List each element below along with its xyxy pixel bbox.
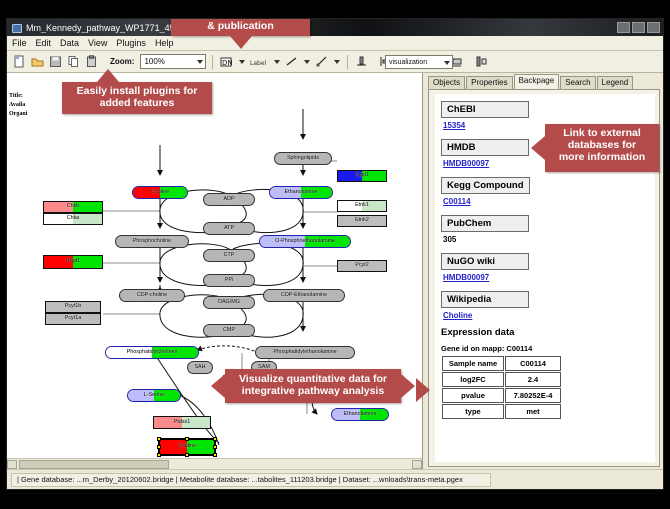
table-cell-value: 7.80252E-4 (505, 388, 561, 403)
gene-node[interactable]: Pcyt2 (337, 260, 387, 272)
label-icon[interactable]: Label (249, 54, 269, 69)
pathway-node[interactable]: CTP (203, 249, 255, 262)
expression-data-heading: Expression data (441, 327, 649, 338)
table-cell-key: Sample name (442, 356, 504, 371)
pathway-node-selected[interactable]: Choline (159, 439, 215, 455)
pathway-node[interactable]: CDP-Ethanolamine (263, 289, 345, 302)
resize-handle[interactable] (157, 445, 161, 449)
zoom-combobox[interactable]: 100% (140, 54, 206, 69)
section-header: Kegg Compound (441, 177, 530, 194)
tab-objects[interactable]: Objects (428, 76, 465, 89)
close-button[interactable] (647, 22, 660, 33)
resize-handle[interactable] (157, 437, 161, 441)
svg-text:DN: DN (222, 59, 233, 67)
callout-draw-line2: & publication (171, 20, 310, 32)
chevron-down-icon (197, 60, 203, 64)
pathway-node[interactable]: Ethanolamine (331, 408, 389, 421)
status-bar: | Gene database: ...m_Derby_20120602.bri… (7, 469, 663, 489)
tab-search[interactable]: Search (560, 76, 595, 89)
external-link[interactable]: Choline (443, 311, 649, 320)
table-cell-key: pvalue (442, 388, 504, 403)
table-cell-value: met (505, 404, 561, 419)
canvas-title-label: Title: (9, 93, 23, 99)
resize-handle[interactable] (213, 453, 217, 457)
callout-plugins-line2: added features (62, 97, 212, 109)
resize-handle[interactable] (185, 453, 189, 457)
gene-node[interactable]: Pcyt1a (45, 313, 101, 325)
callout-plugins: Easily install plugins for added feature… (62, 82, 212, 114)
resize-handle[interactable] (213, 437, 217, 441)
pathway-node[interactable]: SAH (187, 361, 213, 374)
pathway-node[interactable]: Phosphocholine (115, 235, 189, 248)
interaction-icon[interactable] (314, 54, 329, 69)
backpage-section-pubchem: PubChem 305 (441, 213, 649, 244)
open-folder-icon[interactable] (30, 54, 45, 69)
resize-handle[interactable] (157, 453, 161, 457)
pathway-node[interactable]: Choline (132, 186, 188, 199)
pathway-node[interactable]: PPi (203, 274, 255, 287)
callout-draw: Draw for presentation & publication (171, 18, 310, 36)
interaction-dropdown-icon[interactable] (332, 54, 341, 69)
tab-backpage[interactable]: Backpage (514, 74, 560, 89)
callout-links: Link to external databases for more info… (545, 124, 659, 172)
backpage-section-wikipedia: Wikipedia Choline (441, 289, 649, 320)
table-row: Sample name C00114 (442, 356, 561, 371)
zoom-label: Zoom: (110, 57, 134, 66)
datanode-dropdown-icon[interactable] (237, 54, 246, 69)
gene-node[interactable]: Pcyt1b (45, 301, 101, 313)
datanode-icon[interactable]: DN (219, 54, 234, 69)
side-panel-tabs: Objects Properties Backpage Search Legen… (423, 73, 663, 89)
toolbar-separator (212, 55, 213, 69)
label-dropdown-icon[interactable] (272, 54, 281, 69)
expression-data-table: Sample name C00114 log2FC 2.4 pvalue 7.8… (441, 355, 562, 420)
gene-node[interactable]: Etnk2 (337, 215, 387, 227)
window-controls (617, 22, 663, 33)
table-cell-value: 2.4 (505, 372, 561, 387)
scroll-left-arrow-icon[interactable] (7, 460, 17, 469)
toolbar-separator-2 (347, 55, 348, 69)
callout-visualize-line1: Visualize quantitative data for (225, 373, 401, 385)
chevron-down-icon (444, 61, 450, 65)
scroll-right-arrow-icon[interactable] (412, 460, 422, 469)
callout-draw-arrow-icon (230, 36, 252, 49)
status-text: | Gene database: ...m_Derby_20120602.bri… (11, 473, 491, 487)
backpage-section-nugo: NuGO wiki HMDB00097 (441, 251, 649, 282)
paste-icon[interactable] (84, 54, 99, 69)
backpage-section-kegg: Kegg Compound C00114 (441, 175, 649, 206)
table-cell-key: log2FC (442, 372, 504, 387)
app-icon (11, 22, 22, 33)
align-top-icon[interactable] (354, 54, 369, 69)
section-header: Wikipedia (441, 291, 529, 308)
pathway-node[interactable]: CMP (203, 324, 255, 337)
menu-item-plugins[interactable]: Plugins (116, 38, 146, 48)
section-value: 305 (443, 235, 649, 244)
gene-node[interactable]: Sgpl1 (337, 170, 387, 182)
minimize-button[interactable] (617, 22, 630, 33)
canvas-available-label: Availa (9, 102, 25, 108)
callout-plugins-line1: Easily install plugins for (62, 85, 212, 97)
gene-node[interactable]: Ptdss1 (153, 416, 211, 429)
section-header: HMDB (441, 139, 529, 156)
pathway-node[interactable]: Ethanolamine (269, 186, 333, 199)
tab-legend[interactable]: Legend (597, 76, 634, 89)
table-row: pvalue 7.80252E-4 (442, 388, 561, 403)
pathway-node[interactable]: CDP-choline (119, 289, 185, 302)
pathway-canvas-wrapper: Title: Availa Organi (7, 73, 423, 469)
visualization-value: visualization (389, 59, 427, 66)
gene-node[interactable]: Etnk1 (337, 200, 387, 212)
callout-visualize-arrow-left-icon (211, 374, 225, 398)
canvas-organism-label: Organi (9, 111, 27, 117)
table-cell-value: C00114 (505, 356, 561, 371)
pathway-node[interactable]: Sphingolipids (274, 152, 332, 165)
section-header: NuGO wiki (441, 253, 529, 270)
callout-visualize: Visualize quantitative data for integrat… (225, 369, 401, 403)
callout-links-arrow-icon (531, 136, 545, 160)
application-window: Mm_Kennedy_pathway_WP1771_45176.gpml Fil… (6, 18, 664, 490)
table-row: log2FC 2.4 (442, 372, 561, 387)
callout-links-line1: Link to external (545, 127, 659, 139)
menu-item-edit[interactable]: Edit (36, 38, 52, 48)
pathway-node[interactable]: L-Serine (127, 389, 181, 402)
copy-icon[interactable] (66, 54, 81, 69)
tab-properties[interactable]: Properties (466, 76, 512, 89)
callout-visualize-line2: integrative pathway analysis (225, 385, 401, 397)
table-cell-key: type (442, 404, 504, 419)
menu-item-help[interactable]: Help (155, 38, 174, 48)
save-icon[interactable] (48, 54, 63, 69)
section-header: ChEBI (441, 101, 529, 118)
pathway-node[interactable]: ATP (203, 222, 255, 235)
gene-node[interactable]: Chka (43, 213, 103, 225)
line-dropdown-icon[interactable] (302, 54, 311, 69)
resize-handle[interactable] (213, 445, 217, 449)
menu-item-file[interactable]: File (12, 38, 27, 48)
svg-text:Label: Label (250, 60, 267, 67)
pathway-node[interactable]: O-Phosphoethanolamine (259, 235, 351, 248)
callout-links-line2: databases for (545, 139, 659, 151)
gene-id-line: Gene id on mapp: C00114 (441, 344, 649, 353)
scrollbar-thumb[interactable] (19, 460, 169, 469)
new-file-icon[interactable] (12, 54, 27, 69)
line-icon[interactable] (284, 54, 299, 69)
menu-item-data[interactable]: Data (60, 38, 79, 48)
external-link[interactable]: C00114 (443, 197, 649, 206)
maximize-button[interactable] (632, 22, 645, 33)
pathway-node[interactable]: Phosphatidylcholines (105, 346, 199, 359)
zoom-value: 100% (144, 57, 164, 66)
order-icon[interactable] (474, 54, 489, 69)
pathway-node[interactable]: Phosphatidylethanolamine (255, 346, 355, 359)
external-link[interactable]: HMDB00097 (443, 273, 649, 282)
gene-node[interactable]: Chpt1 (43, 255, 103, 269)
pathway-node[interactable]: ADP (203, 193, 255, 206)
menu-item-view[interactable]: View (88, 38, 107, 48)
resize-handle[interactable] (185, 437, 189, 441)
callout-plugins-arrow-icon (97, 69, 119, 82)
gene-node[interactable]: Chkb (43, 201, 103, 213)
expression-pointer-arrow-icon (416, 378, 430, 402)
canvas-horizontal-scrollbar[interactable] (7, 458, 422, 469)
pathway-node[interactable]: DAG/MG (203, 296, 255, 309)
table-row: type met (442, 404, 561, 419)
callout-links-line3: more information (545, 151, 659, 163)
title-bar: Mm_Kennedy_pathway_WP1771_45176.gpml (7, 19, 663, 36)
callout-visualize-arrow-right-icon (401, 374, 415, 398)
visualization-combobox[interactable]: visualization (385, 55, 453, 69)
menu-bar: File Edit Data View Plugins Help (7, 36, 663, 51)
section-header: PubChem (441, 215, 529, 232)
